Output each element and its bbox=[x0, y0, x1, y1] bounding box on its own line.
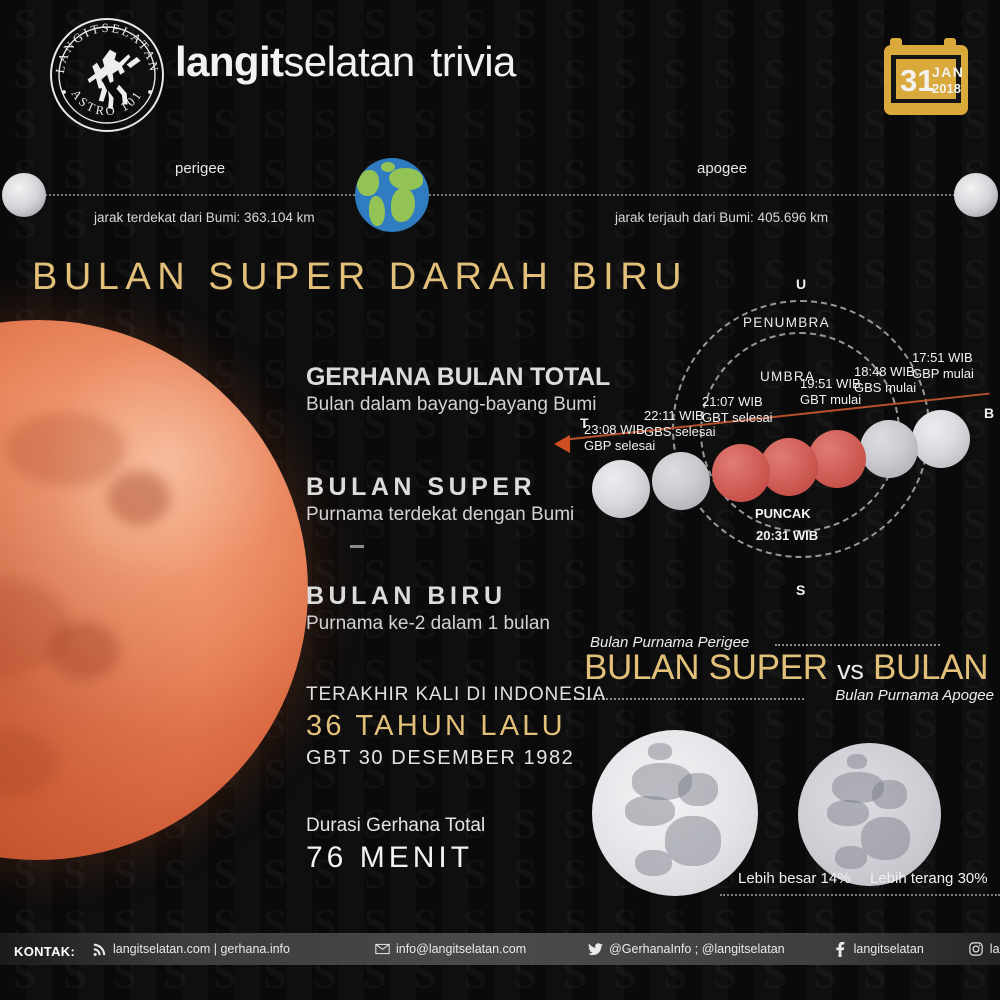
contact-item-email[interactable]: info@langitselatan.com bbox=[375, 942, 526, 957]
feature-block-super-moon: BULAN SUPER Purnama terdekat dengan Bumi bbox=[306, 473, 574, 526]
feature-sub: Purnama ke-2 dalam 1 bulan bbox=[306, 613, 550, 635]
perigee-value: jarak terdekat dari Bumi: 363.104 km bbox=[94, 210, 315, 225]
title-left: BULAN SUPER bbox=[584, 648, 828, 687]
contact-item-instagram[interactable]: langitselatanmedia bbox=[969, 942, 1000, 957]
cardinal-west: B bbox=[984, 405, 994, 421]
feature-head: BULAN SUPER bbox=[306, 473, 574, 502]
peak-time: 20:31 WIB bbox=[756, 528, 818, 544]
title-vs: vs bbox=[837, 655, 863, 685]
twitter-icon bbox=[588, 942, 603, 957]
calendar-year: 2018 bbox=[932, 81, 961, 96]
perigee-label: perigee bbox=[175, 160, 225, 177]
caption-brighter: Lebih terang 30% bbox=[870, 870, 988, 887]
phase-event: GBS selesai bbox=[644, 424, 716, 440]
super-vs-mini-title: BULAN SUPER vs BULAN MINI bbox=[584, 648, 1000, 688]
phase-time: 17:51 WIB bbox=[912, 350, 974, 366]
contact-text: info@langitselatan.com bbox=[396, 943, 526, 956]
apogee-moon-icon bbox=[954, 173, 998, 217]
apogee-value: jarak terjauh dari Bumi: 405.696 km bbox=[615, 210, 828, 225]
dotted-line-top bbox=[775, 644, 940, 646]
calendar-day: 31 bbox=[900, 63, 934, 98]
phase-time: 19:51 WIB bbox=[800, 376, 861, 392]
eclipse-moon-gbt-selesai bbox=[712, 444, 770, 502]
brand-title-light: selatan bbox=[283, 38, 414, 85]
contact-text: langitselatan bbox=[854, 943, 924, 956]
brand-title-bold: langit bbox=[175, 38, 283, 85]
phase-label-gbs-mulai: 18:48 WIB GBS mulai bbox=[854, 364, 916, 396]
eclipse-direction-arrow-icon bbox=[554, 435, 570, 453]
peak-label: PUNCAK bbox=[755, 506, 811, 522]
instagram-icon bbox=[969, 942, 984, 957]
calendar-icon: 31 JAN 2018 bbox=[882, 32, 970, 118]
rss-icon bbox=[92, 942, 107, 957]
contact-text: langitselatanmedia bbox=[990, 943, 1000, 956]
divider-dash bbox=[350, 545, 364, 548]
contact-bar: langitselatan.com | gerhana.info info@la… bbox=[0, 933, 1000, 965]
duration-block: Durasi Gerhana Total 76 MENIT bbox=[306, 815, 485, 875]
calendar-month: JAN bbox=[932, 64, 964, 80]
earth-icon bbox=[355, 158, 429, 232]
cardinal-north: U bbox=[796, 276, 806, 292]
feature-head: BULAN BIRU bbox=[306, 582, 550, 611]
contact-text: langitselatan.com | gerhana.info bbox=[113, 943, 290, 956]
apogee-fullmoon-label: Bulan Purnama Apogee bbox=[835, 687, 994, 704]
feature-sub: Purnama terdekat dengan Bumi bbox=[306, 504, 574, 526]
eclipse-moon-gbs-mulai bbox=[860, 420, 918, 478]
phase-label-gbt-selesai: 21:07 WIB GBT selesai bbox=[702, 394, 773, 426]
kontak-label: KONTAK: bbox=[14, 944, 75, 959]
eclipse-path-diagram: U S T B PENUMBRA UMBRA 23:08 WIB GBP sel… bbox=[560, 272, 1000, 612]
infographic-poster: SSSSSSSSSSSSSSSSSSSSSSSSSSSSSSSSSSSSSSSS… bbox=[0, 0, 1000, 1000]
phase-event: GBT selesai bbox=[702, 410, 773, 426]
phase-time: 18:48 WIB bbox=[854, 364, 916, 380]
perigee-moon-icon bbox=[2, 173, 46, 217]
phase-label-gbp-mulai: 17:51 WIB GBP mulai bbox=[912, 350, 974, 382]
apogee-label: apogee bbox=[697, 160, 747, 177]
title-right: BULAN MINI bbox=[873, 648, 1000, 687]
phase-event: GBS mulai bbox=[854, 380, 916, 396]
contact-item-website[interactable]: langitselatan.com | gerhana.info bbox=[92, 942, 290, 957]
eclipse-moon-gbp-mulai bbox=[912, 410, 970, 468]
penumbra-label: PENUMBRA bbox=[743, 315, 830, 330]
feature-block-blue-moon: BULAN BIRU Purnama ke-2 dalam 1 bulan bbox=[306, 582, 550, 635]
contact-item-facebook[interactable]: langitselatan bbox=[833, 942, 924, 957]
mini-moon-disc bbox=[798, 743, 941, 886]
email-icon bbox=[375, 942, 390, 957]
facebook-icon bbox=[833, 942, 848, 957]
brand-title: langitselatantrivia bbox=[175, 38, 516, 86]
caption-bigger: Lebih besar 14% bbox=[738, 870, 851, 887]
eclipse-moon-gbs-selesai bbox=[652, 452, 710, 510]
dotted-line-bottom bbox=[574, 698, 804, 700]
brand-title-trivia: trivia bbox=[431, 38, 516, 85]
duration-caption: Durasi Gerhana Total bbox=[306, 815, 485, 837]
contact-text: @GerhanaInfo ; @langitselatan bbox=[609, 943, 784, 956]
super-vs-mini-section: Bulan Purnama Perigee BULAN SUPER vs BUL… bbox=[560, 630, 1000, 910]
phase-time: 21:07 WIB bbox=[702, 394, 773, 410]
orbit-dotted-line bbox=[22, 194, 978, 196]
super-moon-disc bbox=[592, 730, 758, 896]
orbit-distance-row: perigee jarak terdekat dari Bumi: 363.10… bbox=[0, 150, 1000, 240]
svg-text:ASTRO 101: ASTRO 101 bbox=[68, 87, 145, 118]
caption-dotted-line bbox=[720, 894, 1000, 896]
phase-label-gbt-mulai: 19:51 WIB GBT mulai bbox=[800, 376, 861, 408]
langitselatan-logo: LANGITSELATAN ASTRO 101 bbox=[48, 16, 166, 134]
cardinal-south: S bbox=[796, 582, 805, 598]
eclipse-moon-gbp-selesai bbox=[592, 460, 650, 518]
phase-event: GBP selesai bbox=[584, 438, 655, 454]
phase-event: GBP mulai bbox=[912, 366, 974, 382]
phase-event: GBT mulai bbox=[800, 392, 861, 408]
contact-item-twitter[interactable]: @GerhanaInfo ; @langitselatan bbox=[588, 942, 784, 957]
duration-value: 76 MENIT bbox=[306, 841, 485, 875]
